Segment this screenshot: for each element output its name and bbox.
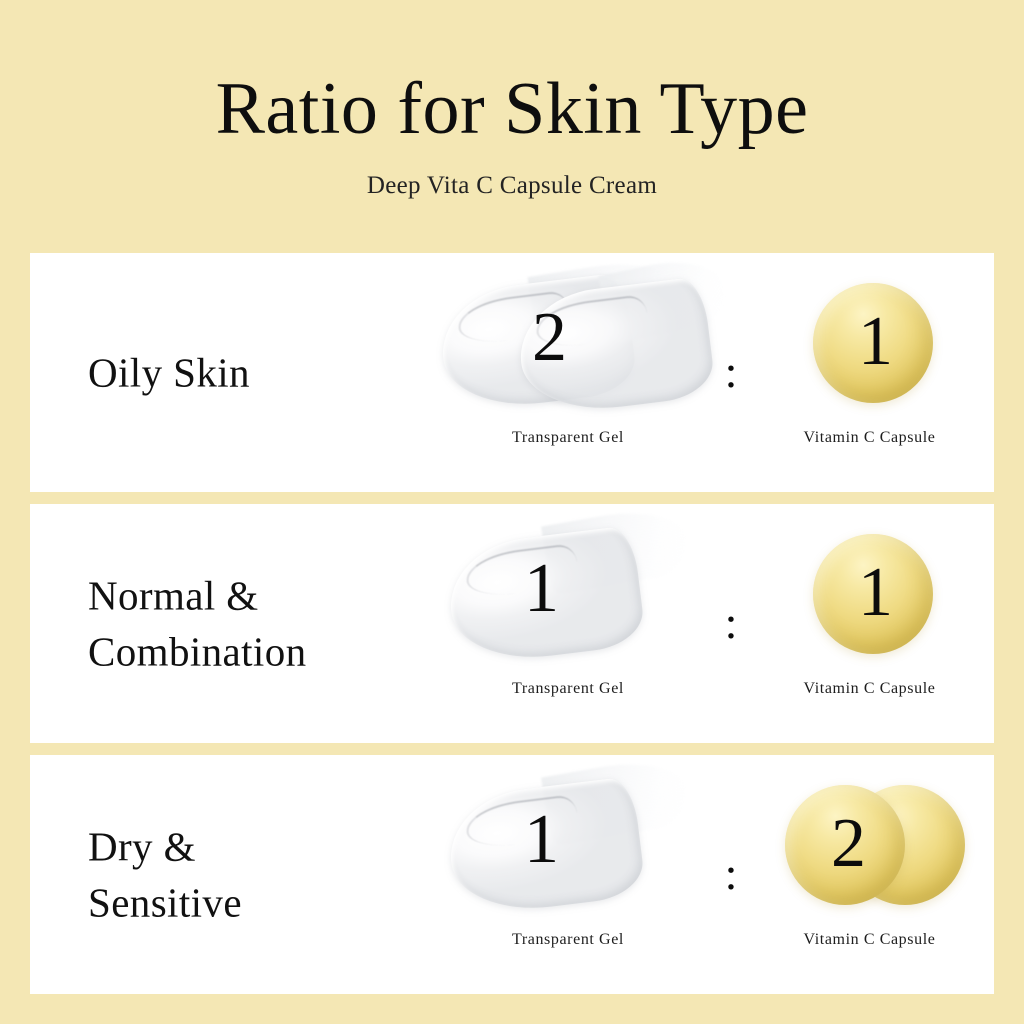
gel-caption: Transparent Gel (428, 429, 708, 447)
skin-type-label: Dry & Sensitive (88, 818, 242, 931)
ratio-card-list: Oily Skin 2 Transparent Gel : 1 Vitamin … (30, 253, 994, 994)
vitamin-c-capsule-group: 1 Vitamin C Capsule (745, 504, 994, 743)
page-header: Ratio for Skin Type Deep Vita C Capsule … (0, 0, 1024, 253)
ratio-row-dry-sensitive: Dry & Sensitive 1 Transparent Gel : 2 Vi… (30, 755, 994, 994)
page-subtitle: Deep Vita C Capsule Cream (367, 172, 657, 200)
ratio-row-normal-combination: Normal & Combination 1 Transparent Gel :… (30, 504, 994, 743)
transparent-gel-group: 1 Transparent Gel (428, 755, 708, 994)
transparent-gel-group: 1 Transparent Gel (428, 504, 708, 743)
capsule-caption: Vitamin C Capsule (745, 680, 994, 698)
ratio-separator: : (716, 349, 746, 395)
transparent-gel-art: 2 (428, 261, 708, 421)
capsule-ratio-value: 1 (858, 307, 893, 377)
transparent-gel-art: 1 (428, 512, 708, 672)
capsule-ratio-value: 1 (858, 558, 893, 628)
capsule-caption: Vitamin C Capsule (745, 429, 994, 447)
gel-caption: Transparent Gel (428, 931, 708, 949)
transparent-gel-group: 2 Transparent Gel (428, 253, 708, 492)
gel-ratio-value: 1 (524, 805, 559, 875)
ratio-separator: : (716, 600, 746, 646)
gel-ratio-value: 1 (524, 554, 559, 624)
infographic-page: { "theme": { "background": "#f4e7b4", "c… (0, 0, 1024, 1024)
capsule-caption: Vitamin C Capsule (745, 931, 994, 949)
transparent-gel-art: 1 (428, 763, 708, 923)
skin-type-label: Normal & Combination (88, 567, 307, 680)
page-title: Ratio for Skin Type (216, 72, 809, 146)
vitamin-c-capsule-art: 1 (745, 269, 994, 421)
vitamin-c-capsule-art: 1 (745, 520, 994, 672)
vitamin-c-capsule-group: 2 Vitamin C Capsule (745, 755, 994, 994)
skin-type-label: Oily Skin (88, 344, 250, 401)
ratio-row-oily-skin: Oily Skin 2 Transparent Gel : 1 Vitamin … (30, 253, 994, 492)
vitamin-c-capsule-art: 2 (745, 771, 994, 923)
vitamin-c-capsule-group: 1 Vitamin C Capsule (745, 253, 994, 492)
gel-ratio-value: 2 (532, 303, 567, 373)
gel-caption: Transparent Gel (428, 680, 708, 698)
capsule-ratio-value: 2 (831, 809, 866, 879)
ratio-separator: : (716, 851, 746, 897)
